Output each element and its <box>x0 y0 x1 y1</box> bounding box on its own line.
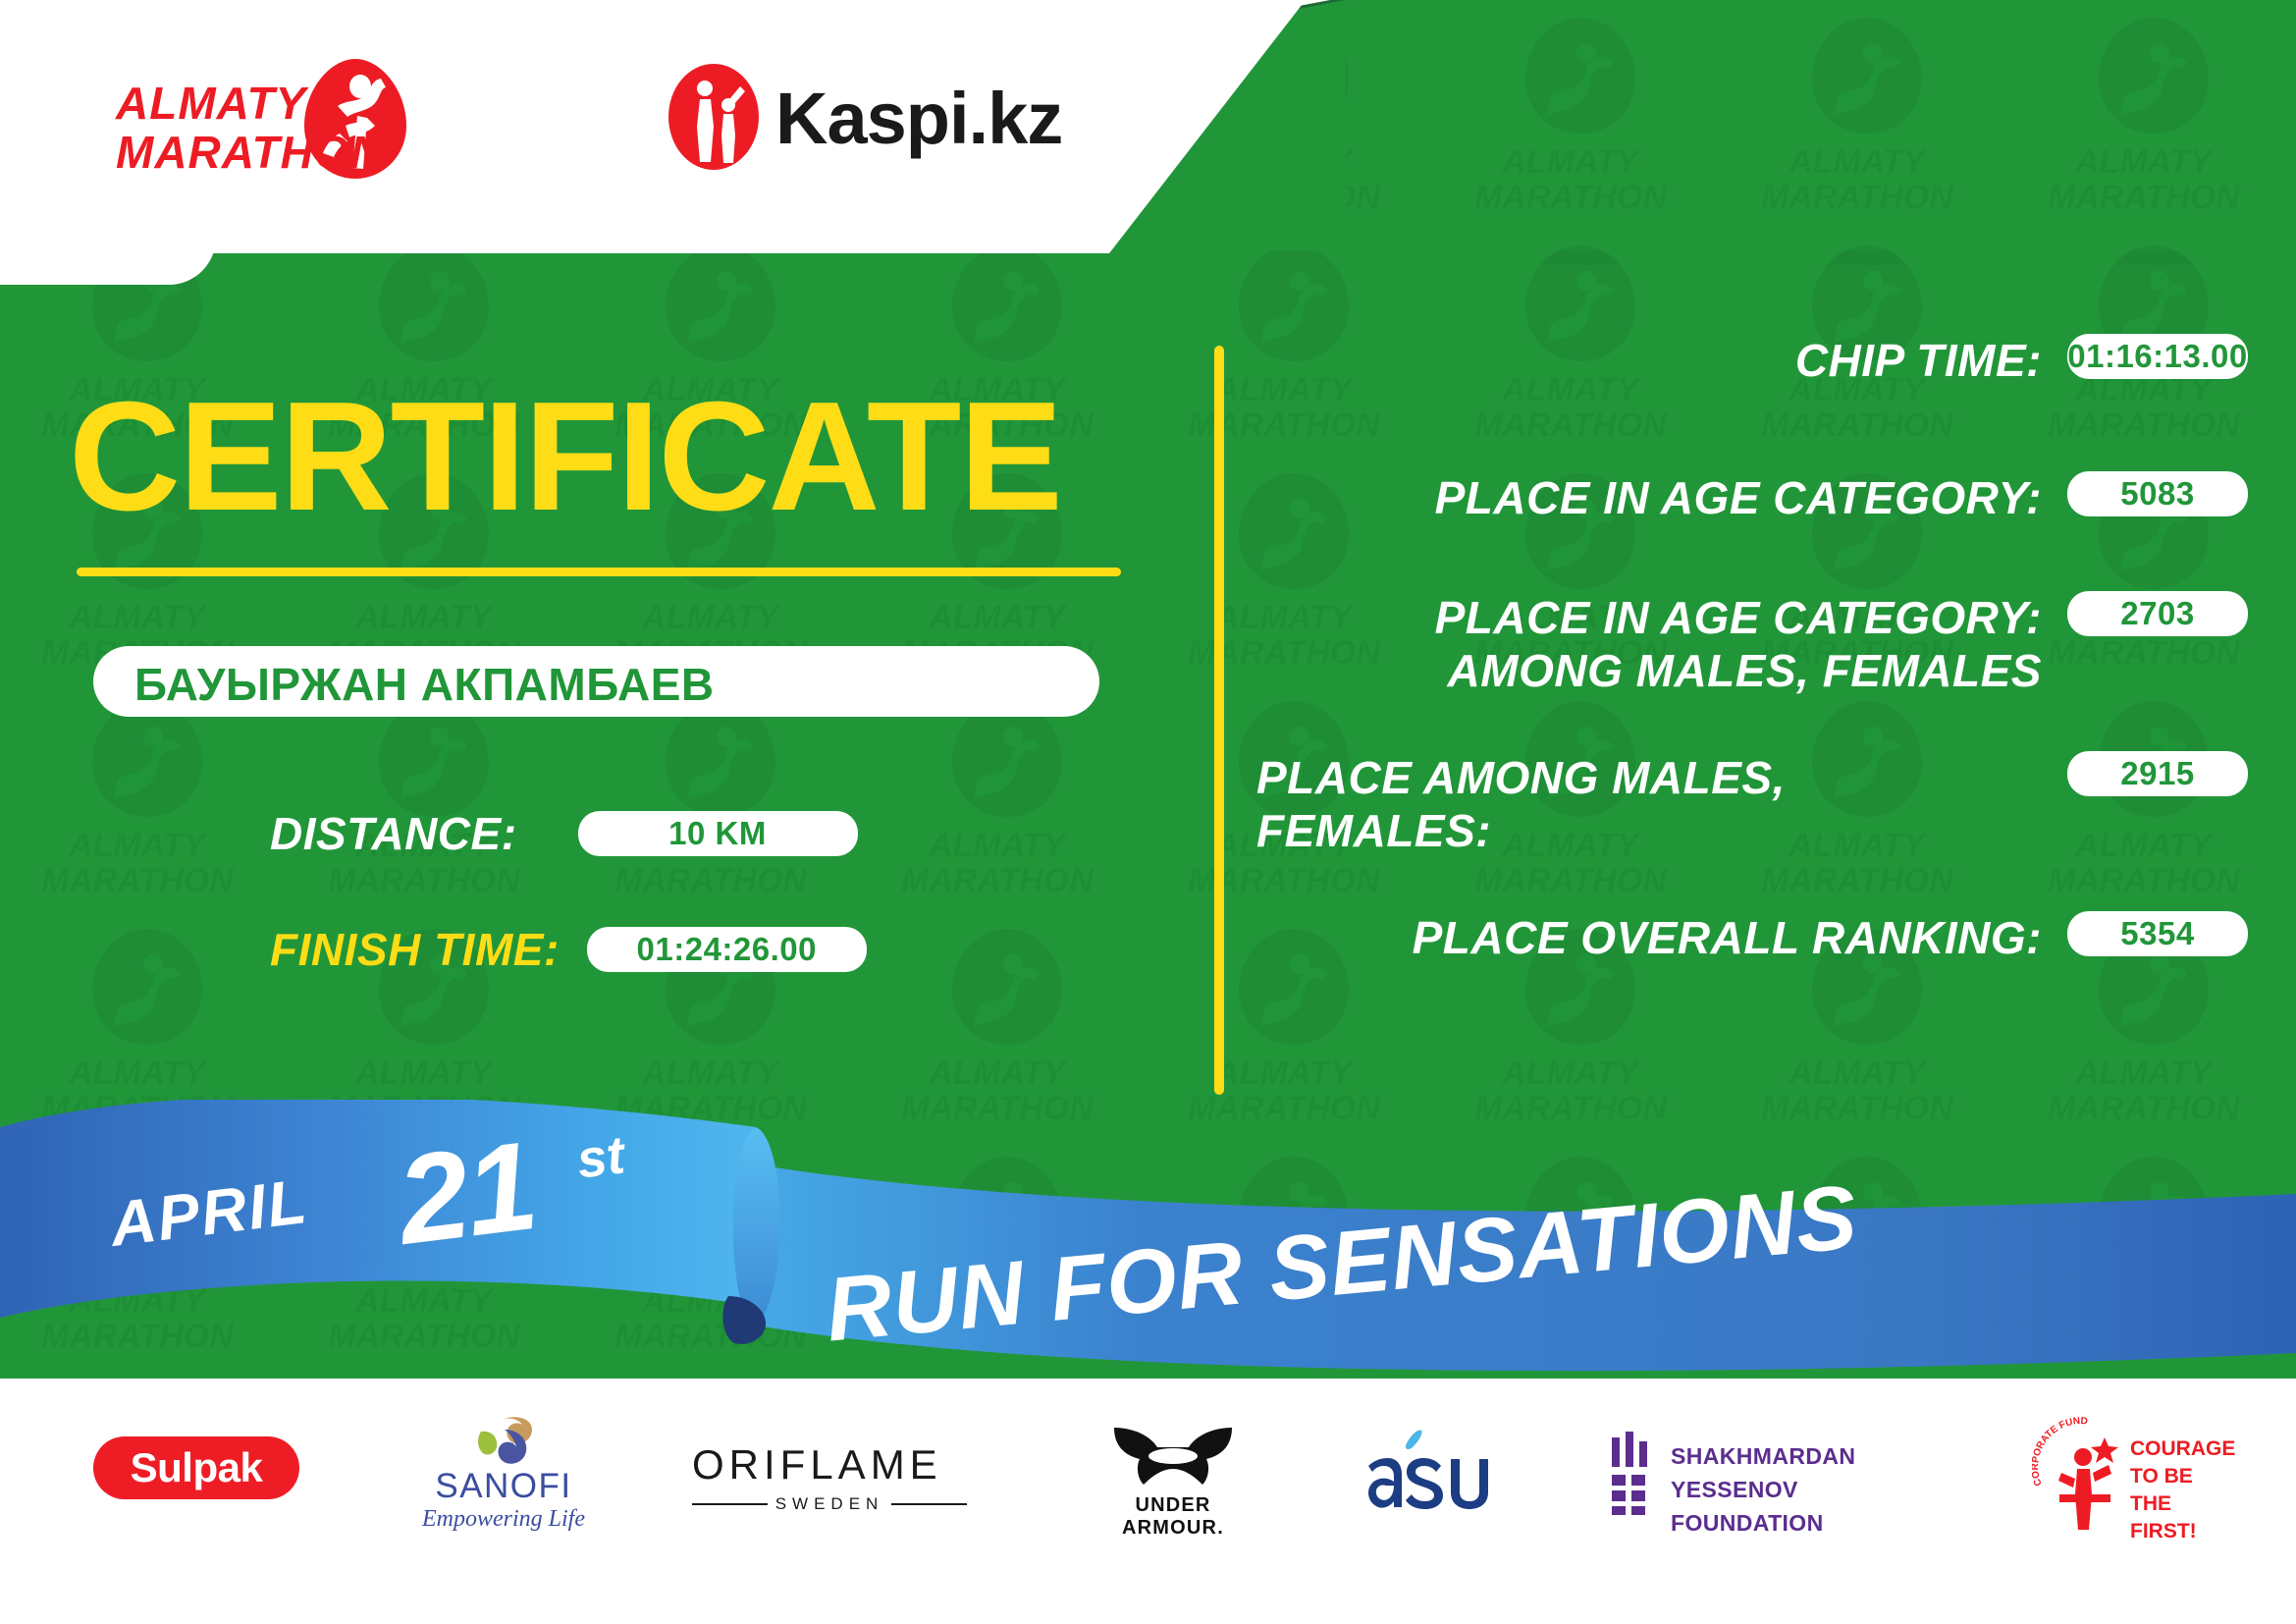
yessenov-wordmark: SHAKHMARDAN YESSENOV FOUNDATION <box>1671 1439 1906 1540</box>
ribbon-day: 21 <box>391 1113 543 1273</box>
finish-time-value: 01:24:26.00 <box>587 927 867 972</box>
place-age-category-label: PLACE IN AGE CATEGORY: <box>1256 471 2042 524</box>
distance-row: DISTANCE: 10 KM <box>270 807 858 860</box>
label-line-1: PLACE IN AGE CATEGORY: <box>1256 591 2042 644</box>
participant-name-field: БАУЫРЖАН АКПАМБАЕВ <box>93 646 1099 717</box>
place-age-category-gender-value: 2703 <box>2067 591 2248 636</box>
kaspi-wordmark: Kaspi.kz <box>775 77 1062 160</box>
courage-wordmark: COURAGE TO BE THE FIRST! <box>2130 1435 2228 1545</box>
stat-row-chip-time: CHIP TIME: 01:16:13.00 <box>1256 334 2248 387</box>
title-underline <box>77 568 1121 576</box>
place-overall-value: 5354 <box>2067 911 2248 956</box>
oriflame-wordmark: ORIFLAME <box>692 1441 967 1489</box>
kaspi-logo: Kaspi.kz <box>667 55 1080 181</box>
label-line-2: AMONG MALES, FEMALES <box>1256 644 2042 697</box>
distance-label: DISTANCE: <box>270 807 517 860</box>
distance-value: 10 KM <box>578 811 858 856</box>
chip-time-value: 01:16:13.00 <box>2067 334 2248 379</box>
left-column: CERTIFICATE БАУЫРЖАН АКПАМБАЕВ DISTANCE:… <box>0 295 1178 1080</box>
place-among-gender-value: 2915 <box>2067 751 2248 796</box>
event-date-ribbon: APRIL 21 st RUN FOR SENSATIONS <box>0 1100 2296 1414</box>
vertical-divider <box>1214 346 1224 1095</box>
sponsor-logo-under-armour: UNDER ARMOUR. <box>1085 1426 1261 1529</box>
stat-row-place-overall: PLACE OVERALL RANKING: 5354 <box>1256 911 2248 964</box>
place-age-category-gender-label: PLACE IN AGE CATEGORY: AMONG MALES, FEMA… <box>1256 591 2042 697</box>
oriflame-rule-left <box>692 1503 768 1505</box>
oriflame-sub: SWEDEN <box>692 1494 967 1514</box>
finish-time-label: FINISH TIME: <box>270 923 560 976</box>
place-age-category-value: 5083 <box>2067 471 2248 516</box>
certificate-canvas: ALMATY MARATHON ALMATY MA <box>0 0 2296 1624</box>
almaty-line: ALMATY <box>116 79 381 128</box>
courage-line-3: THE FIRST! <box>2130 1490 2228 1545</box>
sponsor-logo-courage-fund: CORPORATE FUND COURAGE TO BE THE FIRST! <box>2032 1414 2228 1532</box>
oriflame-rule-right <box>891 1503 967 1505</box>
sponsor-logo-sulpak: Sulpak <box>93 1436 299 1499</box>
oriflame-sweden-label: SWEDEN <box>775 1494 884 1514</box>
stat-row-place-age-category: PLACE IN AGE CATEGORY: 5083 <box>1256 471 2248 524</box>
courage-figure-icon: CORPORATE FUND <box>2032 1414 2126 1532</box>
sanofi-tagline: Empowering Life <box>391 1506 616 1533</box>
sanofi-wordmark: SANOFI <box>391 1467 616 1506</box>
almaty-marathon-wordmark: ALMATY MARATHON <box>116 79 381 177</box>
kaspi-people-icon <box>667 63 760 171</box>
stats-column: CHIP TIME: 01:16:13.00 PLACE IN AGE CATE… <box>1256 334 2296 1110</box>
sanofi-swirl-icon <box>475 1416 536 1467</box>
certificate-title: CERTIFICATE <box>69 378 1061 535</box>
ribbon-day-suffix: st <box>573 1124 627 1190</box>
place-among-gender-label: PLACE AMONG MALES, FEMALES: <box>1256 751 2042 857</box>
label-line-2: FEMALES: <box>1256 804 2042 857</box>
header-logos: ALMATY MARATHON Kaspi.kz <box>0 0 1306 255</box>
label-line-1: PLACE AMONG MALES, <box>1256 751 2042 804</box>
courage-line-2: TO BE <box>2130 1463 2228 1490</box>
sulpak-wordmark: Sulpak <box>131 1444 263 1491</box>
yessenov-line-1: SHAKHMARDAN YESSENOV <box>1671 1439 1906 1506</box>
finish-time-row: FINISH TIME: 01:24:26.00 <box>270 923 867 976</box>
marathon-line: MARATHON <box>116 128 381 177</box>
sponsor-logo-yessenov-foundation: SHAKHMARDAN YESSENOV FOUNDATION <box>1610 1432 1904 1520</box>
place-overall-label: PLACE OVERALL RANKING: <box>1256 911 2042 964</box>
stat-row-place-among-gender: PLACE AMONG MALES, FEMALES: 2915 <box>1256 751 2248 857</box>
participant-name-value: БАУЫРЖАН АКПАМБАЕВ <box>134 658 715 711</box>
stat-row-place-age-category-gender: PLACE IN AGE CATEGORY: AMONG MALES, FEMA… <box>1256 591 2248 697</box>
under-armour-wordmark: UNDER ARMOUR. <box>1085 1494 1261 1540</box>
yessenov-line-2: FOUNDATION <box>1671 1506 1906 1540</box>
chip-time-label: CHIP TIME: <box>1256 334 2042 387</box>
courage-line-1: COURAGE <box>2130 1435 2228 1463</box>
sponsor-logo-asu <box>1364 1429 1512 1522</box>
asu-wordmark-icon <box>1364 1429 1512 1522</box>
almaty-marathon-logo: ALMATY MARATHON <box>116 57 430 185</box>
sponsor-logo-oriflame: ORIFLAME SWEDEN <box>692 1441 967 1520</box>
yessenov-bars-icon <box>1610 1432 1657 1515</box>
sponsor-logo-sanofi: SANOFI Empowering Life <box>391 1416 616 1529</box>
under-armour-glyph-icon <box>1108 1426 1238 1487</box>
